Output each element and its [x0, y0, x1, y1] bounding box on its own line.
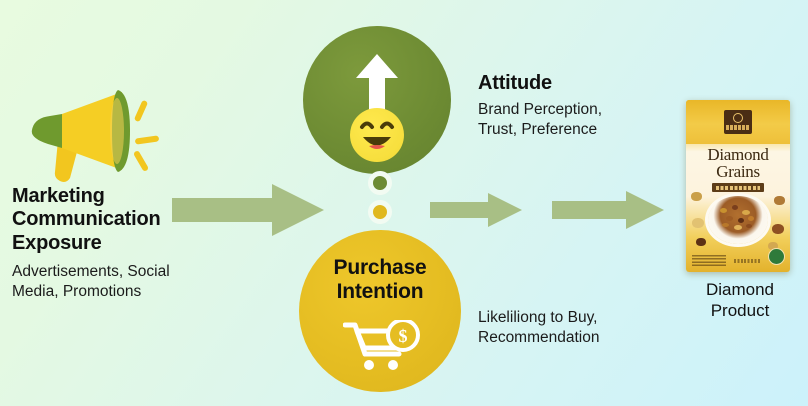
package-nutrition-text — [692, 255, 726, 266]
exposure-subtitle-line-2: Media, Promotions — [12, 282, 212, 302]
attitude-subtitle-line-1: Brand Perception, — [478, 100, 668, 120]
purchase-subtitle-line-1: Likeliliong to Buy, — [478, 308, 678, 328]
certification-badge-icon — [768, 248, 785, 265]
package-banner — [712, 183, 764, 192]
purchase-intention-label: Purchase Intention — [299, 256, 461, 303]
product-label: Diamond Product — [686, 280, 794, 321]
connector-dot-top — [368, 171, 392, 195]
purchase-subtitle-line-2: Recommendation — [478, 328, 678, 348]
brand-logo-icon — [724, 110, 752, 134]
purchase-subtitle: Likeliliong to Buy, Recommendation — [478, 308, 678, 349]
attitude-subtitle-line-2: Trust, Preference — [478, 120, 668, 140]
smiley-face-icon — [350, 108, 404, 162]
up-arrow-icon — [352, 52, 402, 112]
package-brand-name: Diamond Grains — [686, 146, 790, 181]
diamond-grains-package: Diamond Grains — [686, 100, 790, 272]
shopping-cart-dollar-icon: $ — [343, 320, 423, 372]
attitude-title: Attitude — [478, 72, 552, 95]
connector-dot-bottom — [368, 200, 392, 224]
granola-bowl-graphic — [708, 196, 768, 244]
attitude-to-intention-arrow — [430, 192, 522, 228]
exposure-subtitle-line-1: Advertisements, Social — [12, 262, 212, 282]
exposure-subtitle: Advertisements, Social Media, Promotions — [12, 262, 212, 303]
intention-to-product-arrow — [552, 190, 664, 230]
purchase-label-line-1: Purchase — [299, 256, 461, 280]
purchase-label-line-2: Intention — [299, 280, 461, 304]
package-brand-line-2: Grains — [686, 163, 790, 180]
diagram-canvas: Marketing Communication Exposure Adverti… — [0, 0, 808, 406]
svg-text:$: $ — [399, 326, 408, 346]
attitude-subtitle: Brand Perception, Trust, Preference — [478, 100, 668, 141]
product-label-line-1: Diamond — [686, 280, 794, 301]
package-footer-text — [734, 259, 760, 263]
exposure-to-attitude-arrow — [172, 182, 324, 238]
package-brand-line-1: Diamond — [686, 146, 790, 163]
product-label-line-2: Product — [686, 301, 794, 322]
purchase-intention-circle: Purchase Intention $ — [299, 230, 461, 392]
megaphone-icon — [18, 78, 168, 183]
